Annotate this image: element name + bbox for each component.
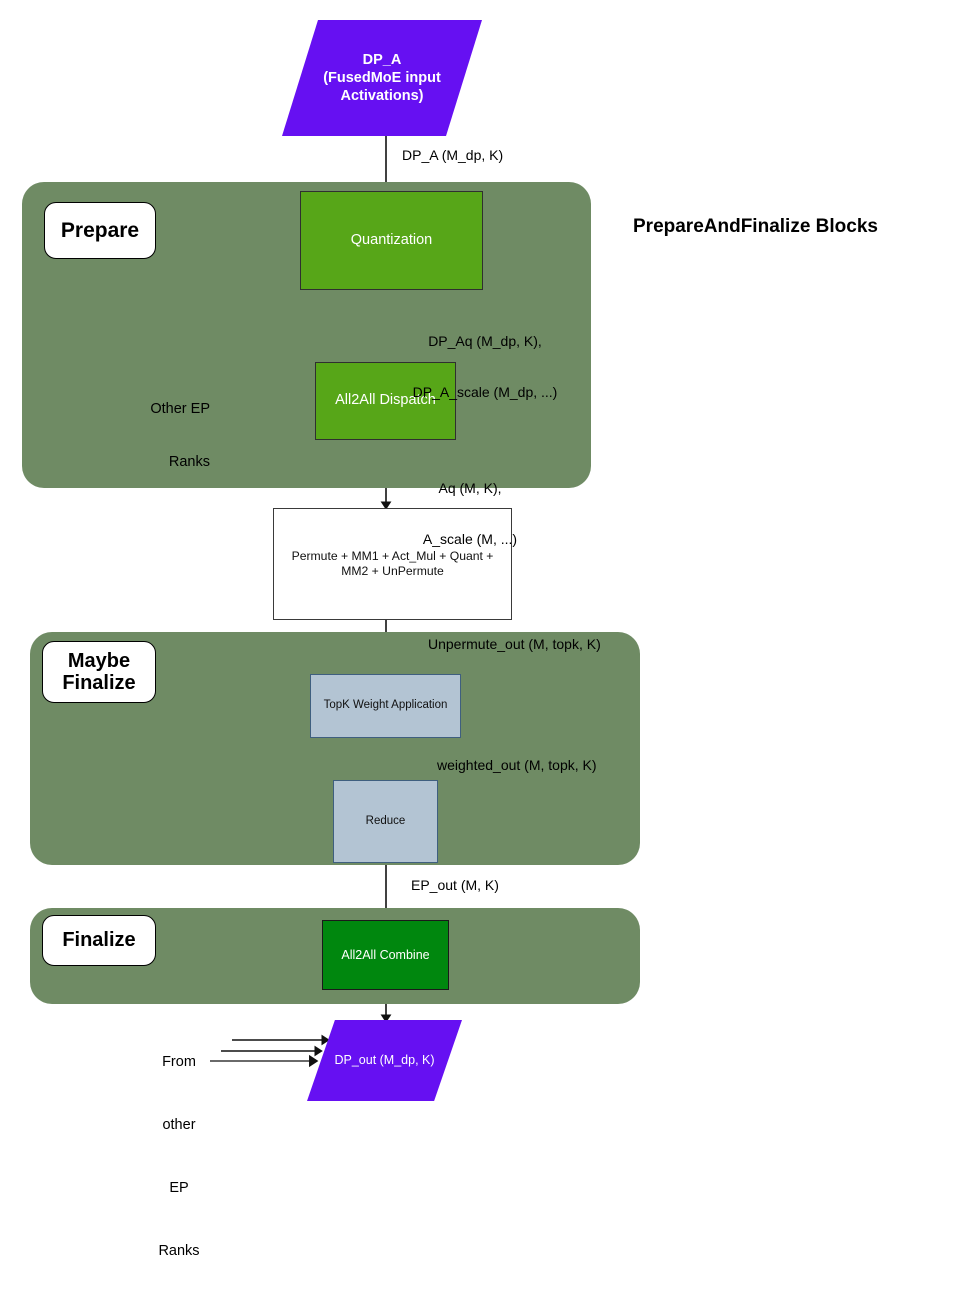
group-maybe-finalize-chip: Maybe Finalize: [42, 641, 156, 703]
group-prepare-chip: Prepare: [44, 202, 156, 259]
edge-label-dp-aq-tensor-line1: DP_Aq (M_dp, K),: [395, 333, 575, 350]
node-quantization-label: Quantization: [351, 232, 432, 249]
data-node-dp-a-line1: DP_A: [323, 51, 441, 69]
edge-label-aq-tensor-line1: Aq (M, K),: [395, 480, 545, 497]
data-node-dp-a-line2: (FusedMoE input: [323, 69, 441, 87]
node-all2all-combine[interactable]: All2All Combine: [322, 920, 449, 990]
node-all2all-combine-label: All2All Combine: [341, 948, 429, 963]
side-label-other-ep-ranks: Other EP Ranks: [100, 366, 210, 508]
group-maybe-finalize-label-line2: Finalize: [62, 672, 135, 694]
side-label-other-ep-ranks-line1: Other EP: [100, 401, 210, 419]
flowchart-canvas: Prepare Maybe Finalize Finalize DP_A (Fu…: [0, 0, 971, 1121]
edge-label-aq-tensor-line2: A_scale (M, ...): [395, 531, 545, 548]
side-label-from-other-ep-ranks-line4: Ranks: [140, 1241, 218, 1262]
edge-label-aq-tensor: Aq (M, K), A_scale (M, ...): [395, 446, 545, 583]
node-topk-weight-application[interactable]: TopK Weight Application: [310, 674, 461, 738]
side-label-from-other-ep-ranks-line3: EP: [140, 1178, 218, 1199]
data-node-dp-out: DP_out (M_dp, K): [307, 1020, 462, 1101]
edge-label-dp-a-tensor: DP_A (M_dp, K): [402, 147, 503, 164]
edge-label-weighted-out-tensor: weighted_out (M, topk, K): [437, 757, 597, 774]
data-node-dp-a: DP_A (FusedMoE input Activations): [282, 20, 482, 136]
data-node-dp-out-label: DP_out (M_dp, K): [334, 1053, 434, 1069]
edge-label-dp-aq-tensor: DP_Aq (M_dp, K), DP_A_scale (M_dp, ...): [395, 299, 575, 436]
edge-label-ep-out-tensor: EP_out (M, K): [411, 877, 499, 894]
data-node-dp-a-line3: Activations): [323, 87, 441, 105]
edge-label-dp-aq-tensor-line2: DP_A_scale (M_dp, ...): [395, 384, 575, 401]
group-finalize-label: Finalize: [62, 929, 135, 951]
group-maybe-finalize-label-line1: Maybe: [68, 650, 130, 672]
node-quantization[interactable]: Quantization: [300, 191, 483, 290]
group-finalize-chip: Finalize: [42, 915, 156, 966]
group-prepare-label: Prepare: [61, 219, 139, 243]
edge-label-unpermute-out-tensor: Unpermute_out (M, topk, K): [428, 636, 601, 653]
side-label-other-ep-ranks-line2: Ranks: [100, 454, 210, 472]
node-topk-weight-application-label: TopK Weight Application: [324, 699, 448, 713]
side-label-from-other-ep-ranks-line1: From: [140, 1052, 218, 1073]
node-reduce[interactable]: Reduce: [333, 780, 438, 863]
side-label-from-other-ep-ranks: From other EP Ranks: [140, 1010, 218, 1304]
side-label-from-other-ep-ranks-line2: other: [140, 1115, 218, 1136]
diagram-title: PrepareAndFinalize Blocks: [633, 216, 878, 238]
node-reduce-label: Reduce: [366, 815, 406, 829]
